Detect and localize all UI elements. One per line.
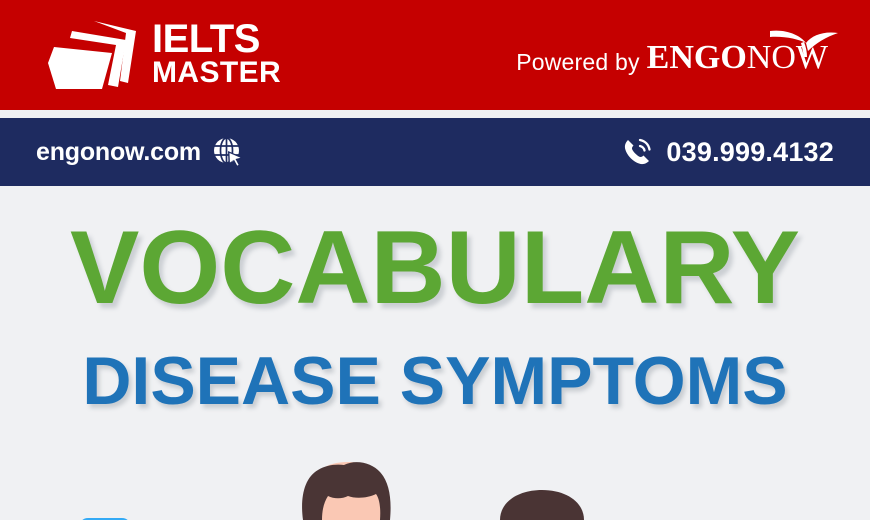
powered-by-engonow[interactable]: Powered by ENGO NOW bbox=[516, 33, 828, 77]
engo-wordmark: ENGO bbox=[647, 39, 747, 77]
page-subtitle: DISEASE SYMPTOMS bbox=[0, 347, 870, 415]
website-link[interactable]: engonow.com bbox=[36, 136, 244, 168]
phone-label: 039.999.4132 bbox=[666, 137, 834, 168]
website-label: engonow.com bbox=[36, 138, 201, 167]
infographic-page: IELTS MASTER Powered by ENGO NOW engonow… bbox=[0, 0, 870, 520]
powered-by-label: Powered by bbox=[516, 49, 639, 76]
phone-ring-icon bbox=[621, 136, 653, 168]
page-title: VOCABULARY bbox=[0, 216, 870, 320]
ielts-master-logo[interactable]: IELTS MASTER bbox=[46, 19, 281, 91]
brand-line-master: MASTER bbox=[152, 59, 281, 87]
illustration-figures bbox=[0, 440, 870, 520]
globe-cursor-icon bbox=[212, 136, 244, 168]
red-header-bar: IELTS MASTER Powered by ENGO NOW bbox=[0, 0, 870, 110]
header-divider-gap bbox=[0, 110, 870, 118]
navy-contact-bar: engonow.com 039.999.4132 bbox=[0, 118, 870, 186]
brand-wordmark: IELTS MASTER bbox=[152, 21, 281, 88]
phone-number[interactable]: 039.999.4132 bbox=[621, 136, 834, 168]
brand-line-ielts: IELTS bbox=[152, 21, 281, 59]
people-illustration bbox=[0, 440, 870, 520]
open-book-swoosh-icon bbox=[760, 27, 840, 61]
stacked-books-icon bbox=[46, 19, 138, 91]
